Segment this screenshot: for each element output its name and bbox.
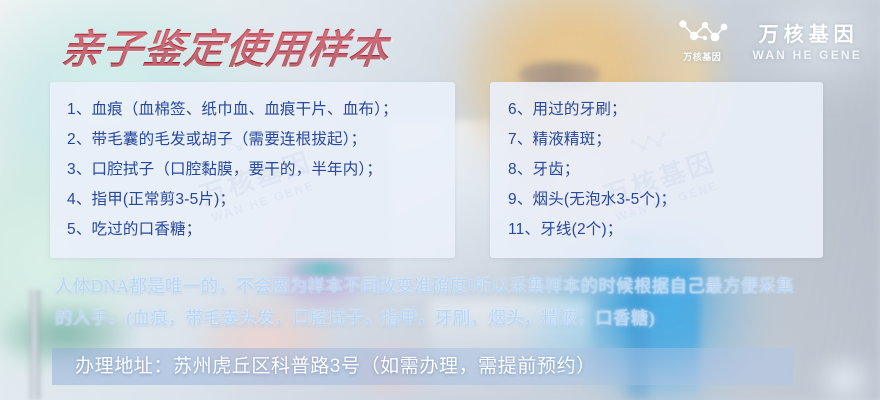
logo-name-cn: 万核基因 [754, 18, 859, 47]
list-item: 11、牙线(2个)； [508, 215, 823, 245]
note-line-1: 人体DNA都是唯一的，不会因为样本不同改变准确度!所以采集样本的时候根据自己最方… [55, 270, 855, 302]
brand-logo: 万核基因 万核基因 WAN HE GENE [674, 16, 862, 63]
page-title: 亲子鉴定使用样本 [58, 17, 393, 75]
list-item: 9、烟头(无泡水3-5个)； [508, 185, 823, 215]
sample-list-right: 6、用过的牙刷； 7、精液精斑； 8、牙齿； 9、烟头(无泡水3-5个)； 11… [490, 82, 823, 245]
list-item: 8、牙齿； [508, 155, 823, 185]
list-item: 1、血痕（血棉签、纸巾血、血痕干片、血布）； [67, 95, 455, 125]
list-item: 3、口腔拭子（口腔黏膜，要干的，半年内）； [67, 155, 455, 185]
note-line-2: 的入手。(血痕，带毛囊头发，口腔拭子，指甲，牙刷，烟头，精液，口香糖) [55, 302, 855, 334]
logo-name-en: WAN HE GENE [750, 48, 862, 62]
logo-mark-caption: 万核基因 [683, 50, 721, 63]
address-text: 办理地址：苏州虎丘区科普路3号（如需办理，需提前预约） [75, 352, 596, 382]
list-item: 4、指甲(正常剪3-5片)； [67, 185, 455, 215]
note-paragraph: 人体DNA都是唯一的，不会因为样本不同改变准确度!所以采集样本的时候根据自己最方… [55, 270, 855, 334]
sample-list-left: 1、血痕（血棉签、纸巾血、血痕干片、血布）； 2、带毛囊的毛发或胡子（需要连根拔… [50, 82, 455, 245]
list-item: 7、精液精斑； [508, 125, 823, 155]
molecule-dna-icon [674, 16, 730, 48]
logo-wordmark: 万核基因 WAN HE GENE [750, 18, 862, 62]
poster-canvas: 亲子鉴定使用样本 [0, 0, 880, 400]
list-item: 5、吃过的口香糖； [67, 215, 455, 245]
sample-list-panel-left: 万核基因 WAN HE GENE 1、血痕（血棉签、纸巾血、血痕干片、血布）； … [50, 82, 455, 258]
logo-mark: 万核基因 [674, 16, 730, 63]
list-item: 2、带毛囊的毛发或胡子（需要连根拔起）； [67, 125, 455, 155]
sample-list-panel-right: 万核基因 WAN HE GENE 6、用过的牙刷； 7、精液精斑； 8、牙齿； … [490, 82, 823, 258]
list-item: 6、用过的牙刷； [508, 95, 823, 125]
